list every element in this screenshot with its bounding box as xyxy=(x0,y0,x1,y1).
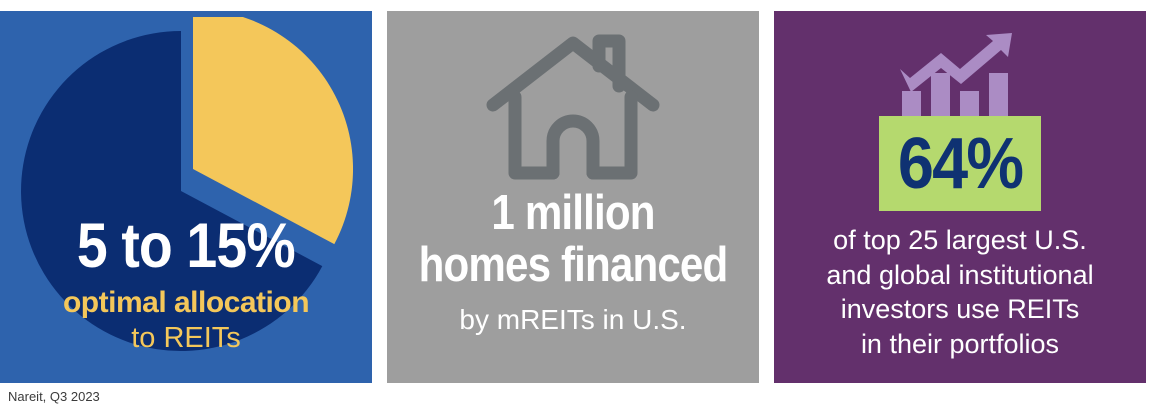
infographic-root: 5 to 15% optimal allocation to REITs xyxy=(0,0,1152,414)
house-text-block: 1 million homes financed by mREITs in U.… xyxy=(387,189,759,336)
panel-institutional-investors: 64% of top 25 largest U.S. and global in… xyxy=(774,11,1146,383)
stat-headline-line2: homes financed xyxy=(418,241,728,290)
growth-chart-icon xyxy=(898,33,1022,117)
detail-line-3: investors use REITs xyxy=(782,292,1138,327)
stat-detail: by mREITs in U.S. xyxy=(393,304,753,336)
purple-text-block: of top 25 largest U.S. and global instit… xyxy=(774,223,1146,361)
house-icon xyxy=(485,33,661,185)
panel-divider-2 xyxy=(759,11,774,383)
detail-line-4: in their portfolios xyxy=(782,327,1138,362)
pie-chart-icon xyxy=(21,17,355,351)
percent-highlight-box: 64% xyxy=(879,116,1041,211)
stat-headline-line1: 1 million xyxy=(418,189,728,238)
panel-divider-1 xyxy=(372,11,387,383)
detail-line-2: and global institutional xyxy=(782,258,1138,293)
panel-homes-financed: 1 million homes financed by mREITs in U.… xyxy=(387,11,759,383)
panel-optimal-allocation: 5 to 15% optimal allocation to REITs xyxy=(0,11,372,383)
detail-line-1: of top 25 largest U.S. xyxy=(782,223,1138,258)
percent-value: 64% xyxy=(898,128,1022,200)
source-caption: Nareit, Q3 2023 xyxy=(8,389,100,404)
panel-row: 5 to 15% optimal allocation to REITs xyxy=(0,11,1152,383)
